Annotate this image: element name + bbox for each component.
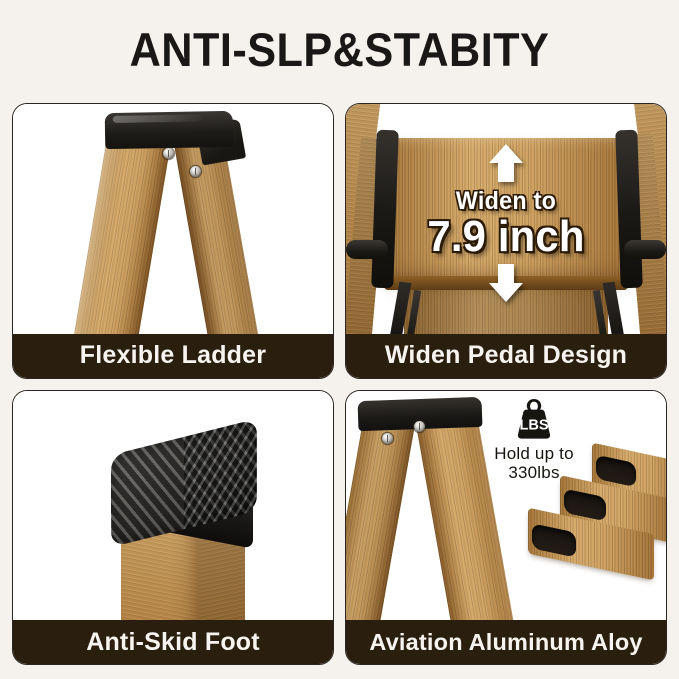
lower-step xyxy=(404,286,608,334)
feature-label-widen-pedal-design: Widen Pedal Design xyxy=(346,334,666,378)
rubber-tread-foot-illustration xyxy=(13,391,333,621)
feature-card-aviation-aluminum-aloy: LBS Hold up to 330lbs Aviation Aluminum … xyxy=(345,390,667,666)
ladder-leg-left xyxy=(346,412,416,620)
pedal-rail-right xyxy=(624,240,666,259)
weight-capacity-line1: Hold up to xyxy=(474,444,594,464)
feature-card-anti-skid-foot: Anti-Skid Foot xyxy=(12,390,334,666)
screw-icon xyxy=(190,166,201,177)
weight-capacity-line2: 330lbs xyxy=(474,463,594,483)
aviation-aluminum-image: LBS Hold up to 330lbs xyxy=(346,391,666,621)
pedal-surface xyxy=(384,138,628,280)
pedal-front-edge xyxy=(384,276,628,290)
feature-label-anti-skid-foot: Anti-Skid Foot xyxy=(13,620,333,664)
hinge-cap-top xyxy=(105,111,234,149)
feature-label-aviation-aluminum-aloy: Aviation Aluminum Aloy xyxy=(346,620,666,664)
weight-capacity-badge: LBS Hold up to 330lbs xyxy=(474,397,594,483)
feature-grid: Flexible Ladder xyxy=(12,103,667,665)
feature-card-widen-pedal-design: Widen to 7.9 inch Widen Pedal Design xyxy=(345,103,667,379)
screw-icon xyxy=(163,148,174,159)
widen-pedal-image: Widen to 7.9 inch xyxy=(346,104,666,334)
weight-lbs-icon: LBS xyxy=(511,397,557,441)
feature-label-flexible-ladder: Flexible Ladder xyxy=(13,334,333,378)
screw-icon xyxy=(414,421,425,432)
screw-icon xyxy=(382,433,393,444)
a-frame-ladder-hinge-illustration xyxy=(13,104,333,334)
flexible-ladder-image xyxy=(13,104,333,334)
product-infographic: ANTI-SLP&STABITY Flexible Ladder xyxy=(0,0,679,679)
feature-card-flexible-ladder: Flexible Ladder xyxy=(12,103,334,379)
page-title: ANTI-SLP&STABITY xyxy=(27,22,652,77)
pedal-rail-left xyxy=(346,240,388,259)
wide-ladder-step-illustration: Widen to 7.9 inch xyxy=(346,104,666,334)
anti-skid-foot-image xyxy=(13,391,333,621)
svg-text:LBS: LBS xyxy=(520,417,549,433)
hollow-aluminum-tubes-illustration: LBS Hold up to 330lbs xyxy=(346,391,666,621)
